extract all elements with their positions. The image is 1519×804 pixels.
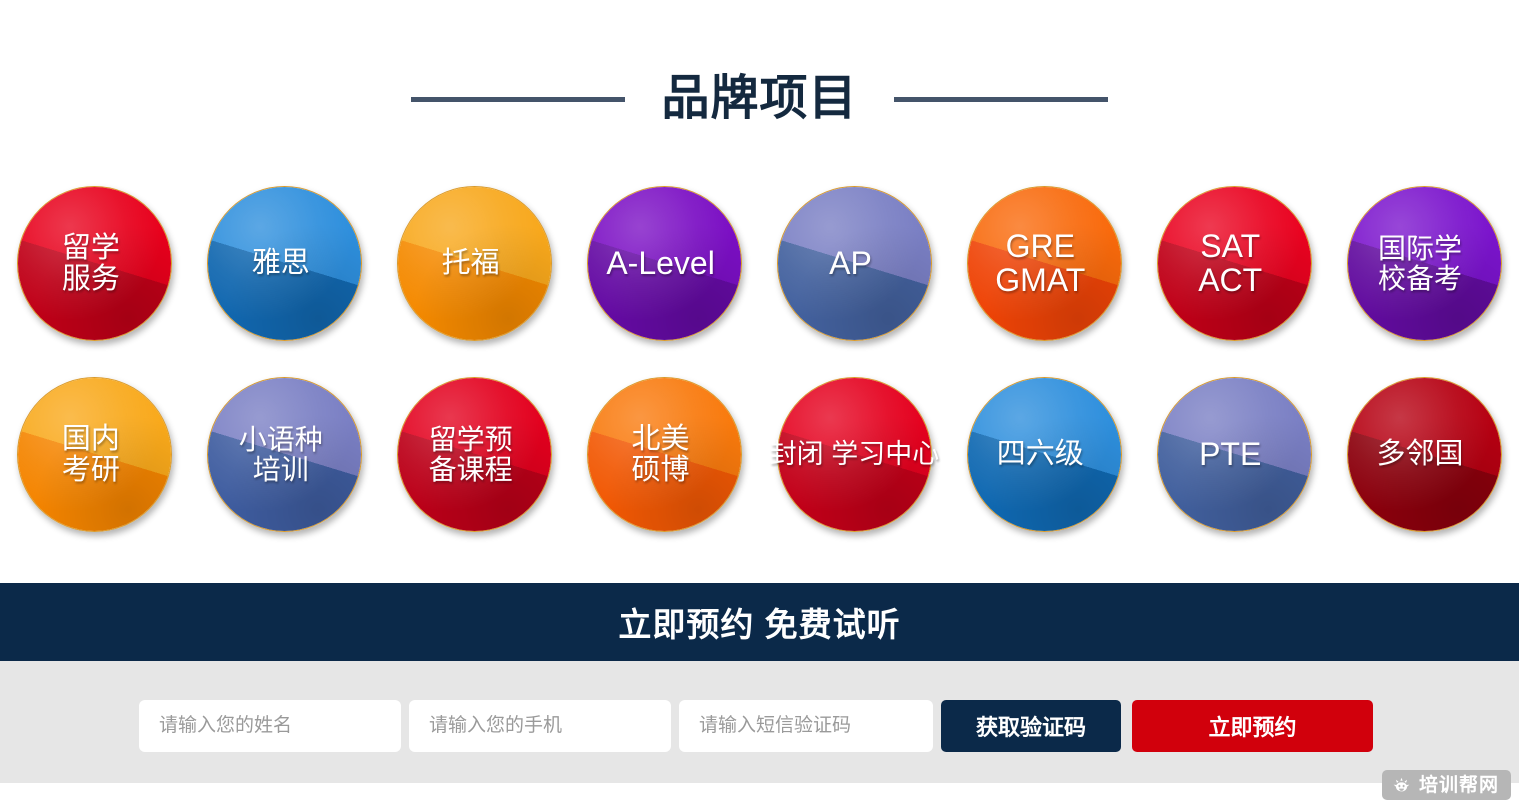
program-cell: 四六级 <box>949 377 1139 532</box>
sun-face-icon <box>1391 775 1412 796</box>
program-circle[interactable]: 雅思 <box>207 186 362 341</box>
program-row-1: 留学 服务雅思托福A-LevelAPGRE GMATSAT ACT国际学 校备考 <box>0 186 1519 341</box>
program-circle[interactable]: SAT ACT <box>1157 186 1312 341</box>
program-circle[interactable]: 国际学 校备考 <box>1347 186 1502 341</box>
program-circle[interactable]: 托福 <box>397 186 552 341</box>
program-label: 小语种 培训 <box>239 425 331 484</box>
program-circle-grid: 留学 服务雅思托福A-LevelAPGRE GMATSAT ACT国际学 校备考… <box>0 186 1519 532</box>
program-circle[interactable]: AP <box>777 186 932 341</box>
program-label: GRE GMAT <box>995 230 1093 298</box>
program-label: 北美 硕博 <box>632 424 698 485</box>
program-cell: 雅思 <box>190 186 380 341</box>
program-circle[interactable]: GRE GMAT <box>967 186 1122 341</box>
program-label: 封闭 学习中心 <box>770 440 940 469</box>
cta-banner-text: 立即预约 免费试听 <box>618 598 900 646</box>
program-circle[interactable]: 封闭 学习中心 <box>777 377 932 532</box>
program-cell: AP <box>760 186 950 341</box>
program-circle[interactable]: 小语种 培训 <box>207 377 362 532</box>
program-cell: SAT ACT <box>1139 186 1329 341</box>
program-cell: 托福 <box>380 186 570 341</box>
program-label: 托福 <box>442 248 508 279</box>
program-cell: 国内 考研 <box>0 377 190 532</box>
program-label: SAT ACT <box>1198 230 1270 298</box>
program-label: 多邻国 <box>1377 439 1472 470</box>
watermark-label: 培训帮网 <box>1419 776 1499 795</box>
program-label: PTE <box>1199 438 1269 472</box>
program-row-2: 国内 考研小语种 培训留学预 备课程北美 硕博封闭 学习中心四六级PTE多邻国 <box>0 377 1519 532</box>
phone-input[interactable] <box>409 700 671 752</box>
program-cell: 北美 硕博 <box>570 377 760 532</box>
program-cell: 留学预 备课程 <box>380 377 570 532</box>
submit-booking-button[interactable]: 立即预约 <box>1132 700 1373 752</box>
program-circle[interactable]: PTE <box>1157 377 1312 532</box>
program-circle[interactable]: 留学预 备课程 <box>397 377 552 532</box>
program-cell: 留学 服务 <box>0 186 190 341</box>
booking-form: 获取验证码 立即预约 <box>139 700 1373 752</box>
program-cell: PTE <box>1139 377 1329 532</box>
program-label: 留学预 备课程 <box>429 425 521 484</box>
heading-rule-left <box>411 97 625 102</box>
program-circle[interactable]: 留学 服务 <box>17 186 172 341</box>
program-label: 国际学 校备考 <box>1378 234 1470 293</box>
sms-code-input[interactable] <box>679 700 933 752</box>
get-code-button[interactable]: 获取验证码 <box>941 700 1121 752</box>
booking-form-strip: 获取验证码 立即预约 <box>0 661 1519 783</box>
program-label: 留学 服务 <box>62 233 128 294</box>
program-cell: GRE GMAT <box>949 186 1139 341</box>
program-label: A-Level <box>606 247 723 281</box>
program-cell: A-Level <box>570 186 760 341</box>
program-circle[interactable]: 北美 硕博 <box>587 377 742 532</box>
site-watermark: 培训帮网 <box>1382 770 1511 800</box>
program-cell: 封闭 学习中心 <box>760 377 950 532</box>
program-circle[interactable]: 四六级 <box>967 377 1122 532</box>
brand-programs-page: 品牌项目 留学 服务雅思托福A-LevelAPGRE GMATSAT ACT国际… <box>0 0 1519 804</box>
program-label: AP <box>829 247 880 281</box>
program-cell: 国际学 校备考 <box>1329 186 1519 341</box>
heading-rule-right <box>894 97 1108 102</box>
program-circle[interactable]: 多邻国 <box>1347 377 1502 532</box>
cta-banner: 立即预约 免费试听 <box>0 583 1519 661</box>
program-cell: 小语种 培训 <box>190 377 380 532</box>
program-label: 雅思 <box>252 248 318 279</box>
program-label: 国内 考研 <box>62 424 128 485</box>
page-title: 品牌项目 <box>661 75 857 123</box>
program-label: 四六级 <box>997 439 1092 470</box>
name-input[interactable] <box>139 700 401 752</box>
section-heading: 品牌项目 <box>0 62 1519 136</box>
program-circle[interactable]: A-Level <box>587 186 742 341</box>
program-circle[interactable]: 国内 考研 <box>17 377 172 532</box>
program-cell: 多邻国 <box>1329 377 1519 532</box>
